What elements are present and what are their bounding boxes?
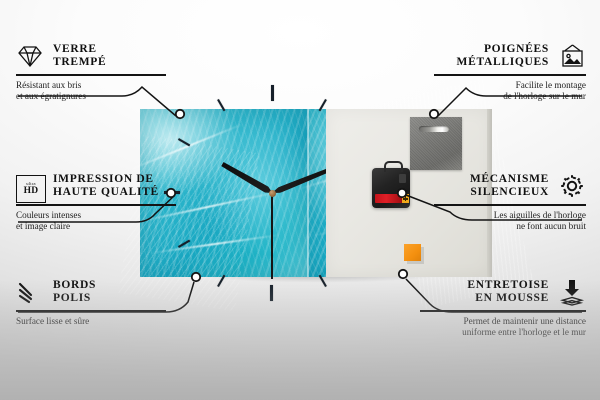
- clock-mechanism: [372, 168, 410, 208]
- feature-desc-line1: Résistant aux bris: [16, 80, 166, 91]
- feature-impression-haute-qualite: ultra HD IMPRESSION DE HAUTE QUALITÉ Cou…: [16, 172, 176, 232]
- feature-title-line1: BORDS: [53, 279, 96, 293]
- infographic-canvas: VERRE TREMPÉ Résistant aux bris et aux é…: [0, 0, 600, 400]
- feature-desc-line2: et aux égratignures: [16, 91, 166, 102]
- feature-title-line1: VERRE: [53, 43, 106, 57]
- clock-tick: [178, 192, 273, 248]
- feature-description: Résistant aux bris et aux égratignures: [16, 80, 166, 103]
- feature-header: POIGNÉES MÉTALLIQUES: [434, 42, 586, 70]
- feature-title: ENTRETOISE EN MOUSSE: [467, 279, 549, 306]
- feature-title-line1: POIGNÉES: [457, 43, 549, 57]
- feature-description: Facilite le montage de l'horloge sur le …: [434, 80, 586, 103]
- feature-desc-line2: ne font aucun bruit: [434, 221, 586, 232]
- foam-spacer: [404, 244, 421, 261]
- feature-desc-line2: uniforme entre l'horloge et le mur: [420, 327, 586, 338]
- feature-divider: [16, 310, 166, 312]
- feature-title-line2: SILENCIEUX: [470, 186, 549, 200]
- feature-title-line1: IMPRESSION DE: [53, 173, 159, 187]
- feature-title-line2: POLIS: [53, 292, 96, 306]
- feature-header: MÉCANISME SILENCIEUX: [434, 172, 586, 200]
- feature-desc-line1: Couleurs intenses: [16, 210, 176, 221]
- feature-desc-line1: Surface lisse et sûre: [16, 316, 166, 327]
- ultra-hd-icon: ultra HD: [16, 172, 44, 200]
- feature-divider: [16, 204, 176, 206]
- feature-verre-trempe: VERRE TREMPÉ Résistant aux bris et aux é…: [16, 42, 166, 102]
- feature-desc-line1: Permet de maintenir une distance: [420, 316, 586, 327]
- feature-title-line1: ENTRETOISE: [467, 279, 549, 293]
- feature-title-line2: EN MOUSSE: [467, 292, 549, 306]
- feature-entretoise-en-mousse: ENTRETOISE EN MOUSSE Permet de maintenir…: [420, 278, 586, 338]
- feature-description: Couleurs intenses et image claire: [16, 210, 176, 233]
- feature-title-line2: MÉTALLIQUES: [457, 56, 549, 70]
- foam-spacer-icon: [558, 278, 586, 306]
- feature-poignees-metalliques: POIGNÉES MÉTALLIQUES Facilite le montage…: [434, 42, 586, 102]
- feature-desc-line2: et image claire: [16, 221, 176, 232]
- feature-title: BORDS POLIS: [53, 279, 96, 306]
- polished-edges-icon: [16, 278, 44, 306]
- feature-mecanisme-silencieux: MÉCANISME SILENCIEUX Les aiguilles de l'…: [434, 172, 586, 232]
- ultra-hd-big-label: HD: [24, 187, 39, 197]
- feature-title: POIGNÉES MÉTALLIQUES: [457, 43, 549, 70]
- feature-header: VERRE TREMPÉ: [16, 42, 166, 70]
- feature-header: BORDS POLIS: [16, 278, 166, 306]
- feature-title-line1: MÉCANISME: [470, 173, 549, 187]
- clock-tick: [271, 85, 273, 193]
- feature-divider: [434, 204, 586, 206]
- mechanism-hook: [384, 161, 403, 172]
- feature-description: Les aiguilles de l'horloge ne font aucun…: [434, 210, 586, 233]
- feature-description: Surface lisse et sûre: [16, 316, 166, 327]
- feature-divider: [16, 74, 166, 76]
- feature-desc-line1: Facilite le montage: [434, 80, 586, 91]
- wall-frame-icon: [558, 42, 586, 70]
- diamond-icon: [16, 42, 44, 70]
- mechanism-knob: [399, 174, 406, 183]
- feature-desc-line2: de l'horloge sur le mur: [434, 91, 586, 102]
- gear-icon: [558, 172, 586, 200]
- hanger-slot: [419, 126, 449, 132]
- feature-title: IMPRESSION DE HAUTE QUALITÉ: [53, 173, 159, 200]
- battery-terminal: [402, 194, 409, 203]
- feature-header: ENTRETOISE EN MOUSSE: [420, 278, 586, 306]
- feature-title-line2: TREMPÉ: [53, 56, 106, 70]
- feature-divider: [420, 310, 586, 312]
- feature-description: Permet de maintenir une distance uniform…: [420, 316, 586, 339]
- feature-title-line2: HAUTE QUALITÉ: [53, 186, 159, 200]
- metallic-hanger-plate: [410, 117, 462, 170]
- clock-second-hand: [271, 193, 273, 279]
- feature-desc-line1: Les aiguilles de l'horloge: [434, 210, 586, 221]
- feature-header: ultra HD IMPRESSION DE HAUTE QUALITÉ: [16, 172, 176, 200]
- feature-title: MÉCANISME SILENCIEUX: [470, 173, 549, 200]
- clock-hour-hand: [220, 161, 274, 196]
- feature-bords-polis: BORDS POLIS Surface lisse et sûre: [16, 278, 166, 327]
- feature-divider: [434, 74, 586, 76]
- feature-title: VERRE TREMPÉ: [53, 43, 106, 70]
- clock-center-hub: [269, 190, 276, 197]
- clock-tick: [164, 192, 272, 194]
